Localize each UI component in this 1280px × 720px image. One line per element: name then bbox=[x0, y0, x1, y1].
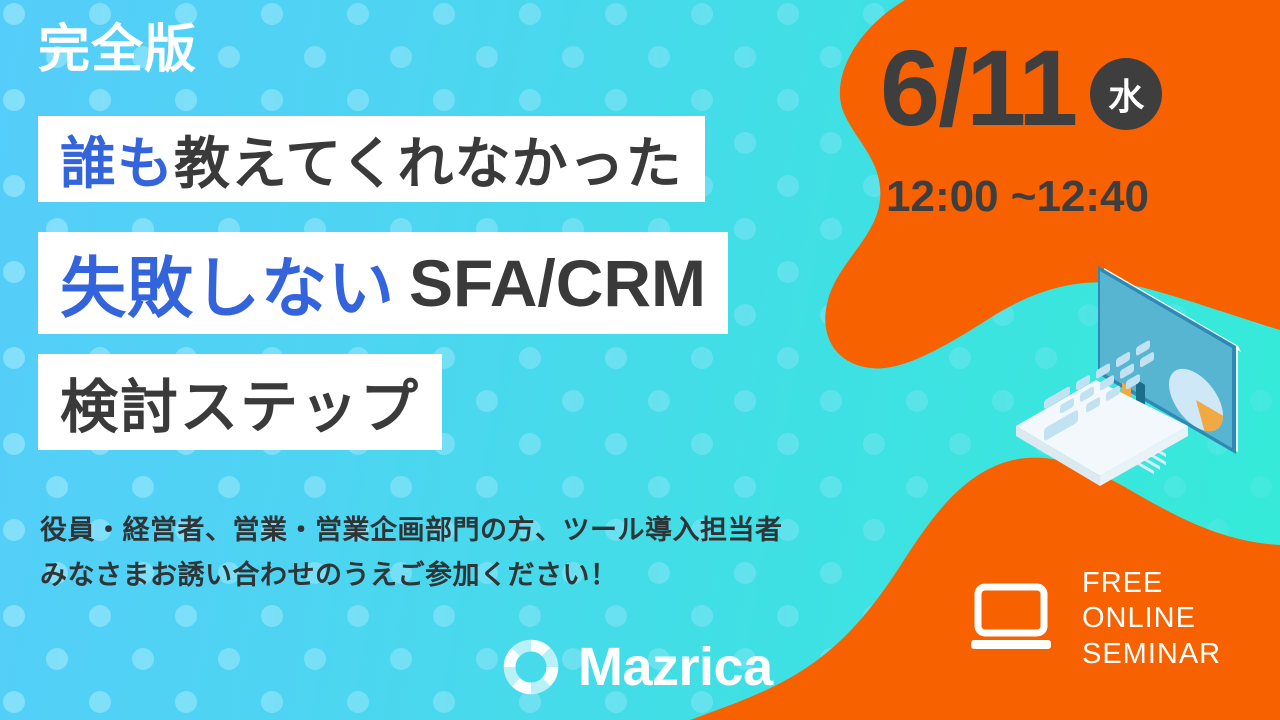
seminar-banner: 完全版 誰も 教えてくれなかった 失敗しない SFA/CRM 検討ステップ 役員… bbox=[0, 0, 1280, 720]
title-line-1-rest: 教えてくれなかった bbox=[174, 119, 683, 200]
title-line-3-rest: 検討ステップ bbox=[60, 360, 420, 444]
title-line-3: 検討ステップ bbox=[38, 354, 442, 450]
event-date: 6/11 bbox=[880, 34, 1076, 142]
title-line-2-highlight: 失敗しない bbox=[60, 235, 395, 331]
laptop-outline-icon bbox=[968, 583, 1060, 655]
audience-description: 役員・経営者、営業・営業企画部門の方、ツール導入担当者 みなさまお誘い合わせのう… bbox=[40, 508, 783, 597]
title-line-2: 失敗しない SFA/CRM bbox=[38, 232, 728, 334]
title-line-1: 誰も 教えてくれなかった bbox=[38, 116, 705, 202]
mazrica-ring-icon bbox=[500, 636, 562, 698]
left-content-column: 完全版 誰も 教えてくれなかった 失敗しない SFA/CRM 検討ステップ 役員… bbox=[0, 0, 830, 720]
audience-line-1: 役員・経営者、営業・営業企画部門の方、ツール導入担当者 bbox=[40, 508, 783, 553]
audience-line-2: みなさまお誘い合わせのうえご参加ください！ bbox=[40, 553, 783, 598]
event-date-row: 6/11 水 bbox=[880, 34, 1162, 142]
mazrica-wordmark: Mazrica bbox=[578, 640, 773, 694]
day-of-week-badge: 水 bbox=[1090, 58, 1162, 130]
badge-line-free: FREE bbox=[1082, 566, 1221, 601]
kicker-label: 完全版 bbox=[38, 22, 197, 79]
mazrica-logo: Mazrica bbox=[500, 636, 773, 698]
isometric-laptop-illustration bbox=[1000, 240, 1280, 502]
title-line-2-rest: SFA/CRM bbox=[409, 245, 706, 321]
title-line-1-highlight: 誰も bbox=[60, 119, 174, 200]
free-online-seminar-badge: FREE ONLINE SEMINAR bbox=[968, 566, 1221, 672]
free-online-seminar-text: FREE ONLINE SEMINAR bbox=[1082, 566, 1221, 672]
event-time-range: 12:00 ~12:40 bbox=[886, 172, 1149, 222]
badge-line-online: ONLINE bbox=[1082, 601, 1221, 636]
badge-line-seminar: SEMINAR bbox=[1082, 637, 1221, 672]
